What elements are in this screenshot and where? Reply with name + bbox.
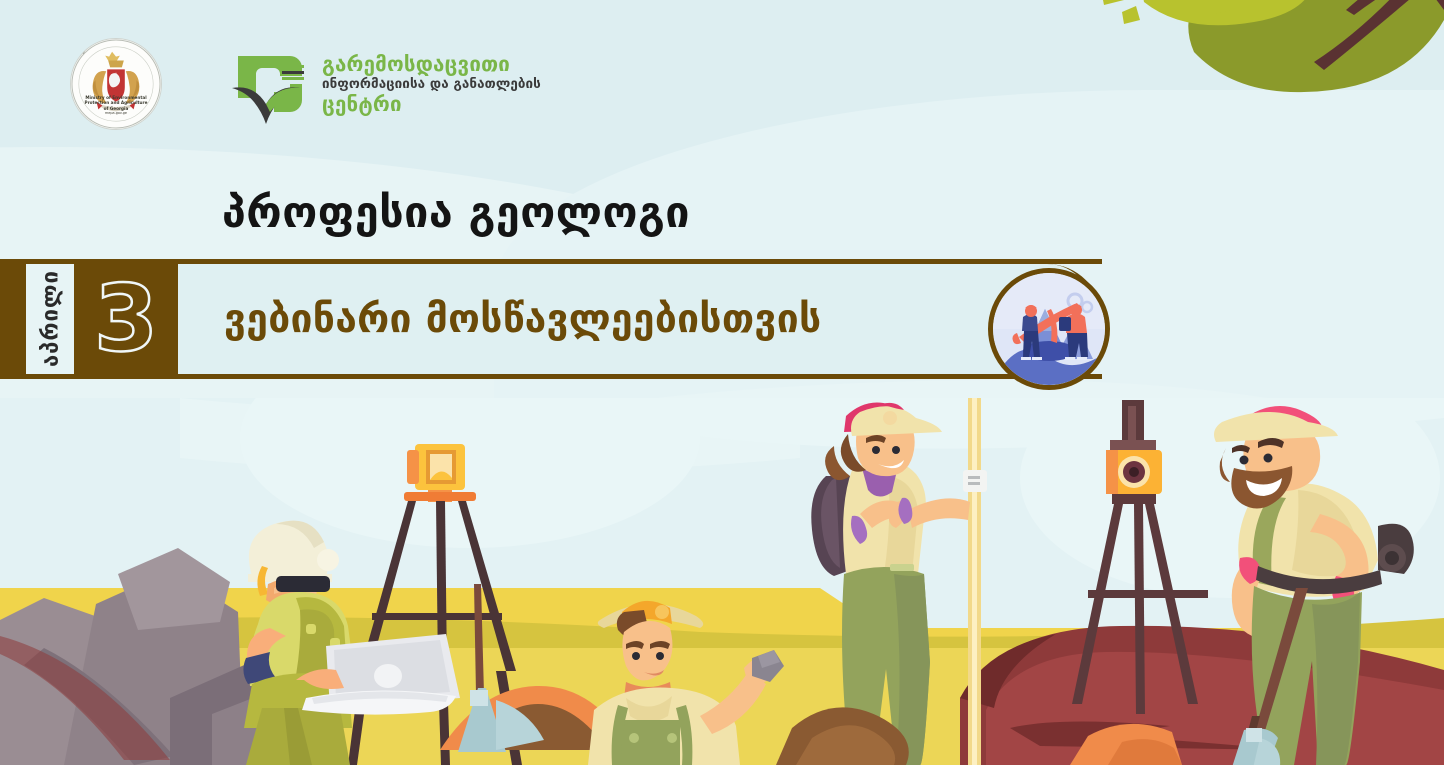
banner-body: ვებინარი მოსწავლეებისთვის bbox=[178, 264, 1102, 374]
open-book-leaf-mark bbox=[220, 38, 312, 130]
header-logos: საქართველოს გარემოს დაცვისა და სოფლის მე… bbox=[70, 38, 541, 130]
ceic-logo-line3: ცენტრი bbox=[322, 94, 541, 116]
banner-day-block: 3 bbox=[74, 259, 178, 379]
banner-headline: ვებინარი მოსწავლეებისთვის bbox=[224, 297, 821, 342]
georgia-coat-of-arms: საქართველოს გარემოს დაცვისა და სოფლის მე… bbox=[70, 38, 162, 130]
emblem-english-text: Ministry of Environmental Protection and… bbox=[71, 95, 161, 115]
geologists-mountain-pickaxe-icon bbox=[988, 268, 1110, 390]
page-title: პროფესია გეოლოგი bbox=[222, 192, 690, 235]
ceic-logo-line2: ინფორმაციისა და განათლების bbox=[322, 77, 541, 94]
geologists-field-survey-scene bbox=[0, 398, 1444, 765]
foliage-branch-icon bbox=[1024, 0, 1444, 120]
banner-month-label: აპრილი bbox=[28, 259, 74, 379]
poster-canvas: საქართველოს გარემოს დაცვისა და სოფლის მე… bbox=[0, 0, 1444, 765]
banner-bottom-rule bbox=[0, 374, 1102, 379]
banner-day-number: 3 bbox=[94, 278, 158, 361]
month-tab-block bbox=[0, 259, 26, 379]
ceic-logo-line1: გარემოსდაცვითი bbox=[322, 54, 541, 76]
ceic-logo: გარემოსდაცვითი ინფორმაციისა და განათლები… bbox=[220, 38, 541, 130]
